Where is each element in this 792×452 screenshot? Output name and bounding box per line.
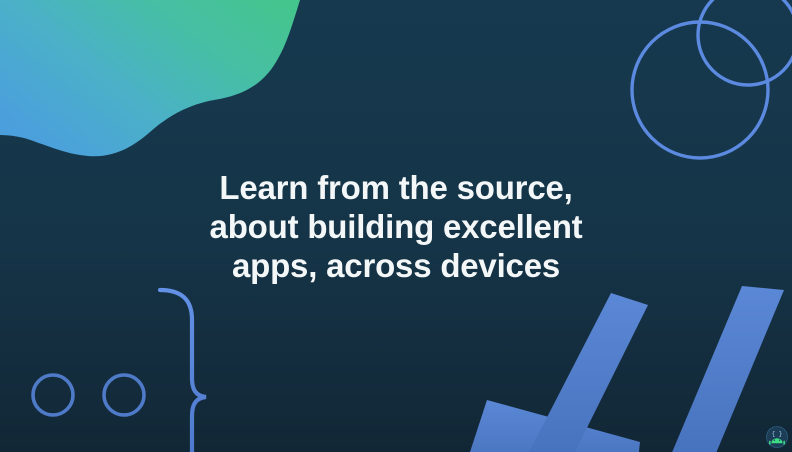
android-developers-logo-icon: { } xyxy=(766,426,788,448)
presentation-slide: Learn from the source, about building ex… xyxy=(0,0,792,452)
watermark-braces-glyph: { } xyxy=(772,431,783,438)
slide-headline: Learn from the source, about building ex… xyxy=(0,168,792,285)
